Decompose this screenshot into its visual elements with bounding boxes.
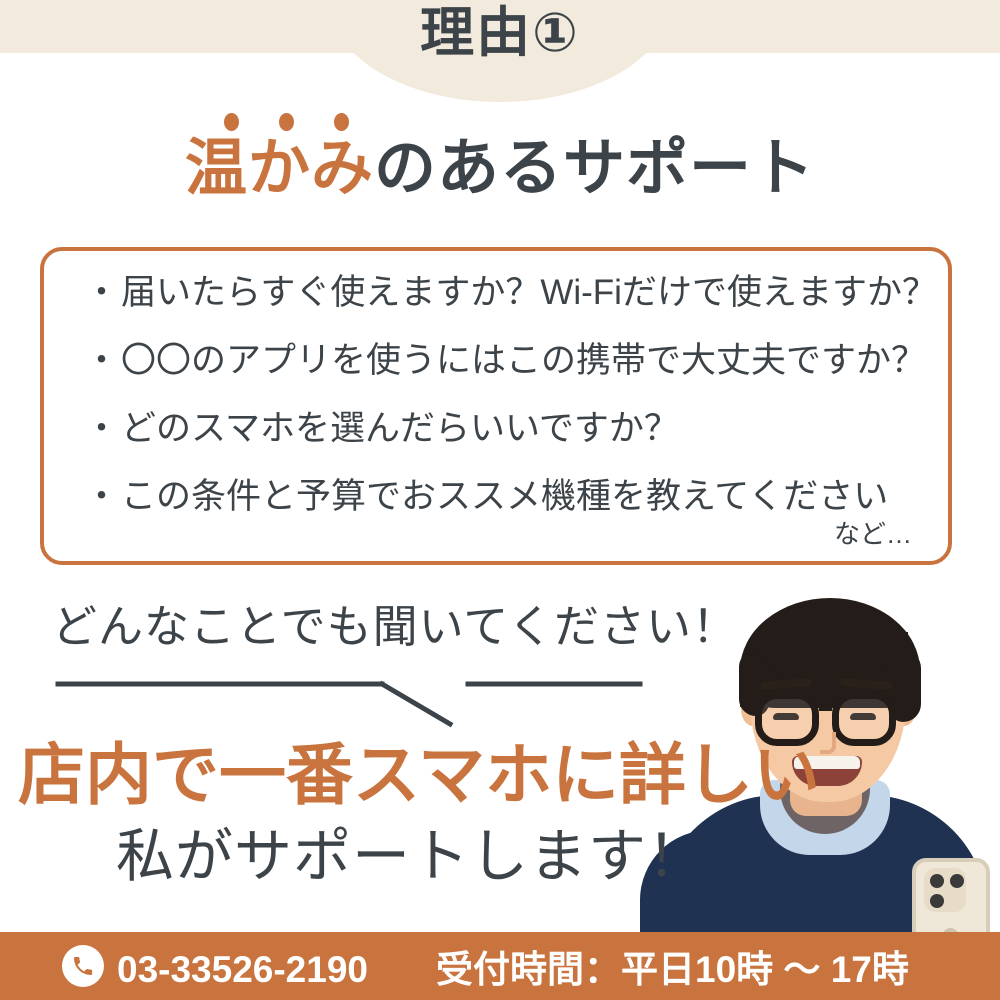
list-item-text: 届いたらすぐ使えますか？Wi-Fiだけで使えますか？	[121, 273, 937, 312]
bullet-marker: ・	[84, 477, 119, 516]
bullet-marker: ・	[84, 273, 119, 312]
lead-line-text: どんなことでも聞いてください！	[52, 604, 738, 649]
poster-root: 理由① 温かみのあるサポート ・届いたらすぐ使えますか？Wi-Fiだけで使えます…	[0, 0, 1000, 1000]
main-title: 温かみのあるサポート	[0, 136, 1000, 201]
list-item-text: 〇〇のアプリを使うにはこの携帯で大丈夫ですか？	[121, 341, 926, 380]
list-item-text: どのスマホを選んだらいいですか？	[121, 409, 679, 448]
photo-nose	[820, 732, 836, 754]
question-list: ・届いたらすぐ使えますか？Wi-Fiだけで使えますか？ ・〇〇のアプリを使うには…	[84, 275, 930, 514]
photo-phone-lens	[950, 874, 964, 888]
statement-line-2: 私がサポートします！	[116, 828, 706, 886]
photo-glasses-lens-right	[832, 692, 896, 746]
speech-bubble-underline-icon	[40, 666, 660, 736]
phone-handset-glyph	[71, 954, 95, 978]
main-title-rest: のあるサポート	[374, 134, 815, 203]
bullet-marker: ・	[84, 341, 119, 380]
emphasis-dot	[279, 113, 294, 131]
statement-line-1: 店内で一番スマホに詳しい	[18, 742, 820, 809]
list-item: ・〇〇のアプリを使うにはこの携帯で大丈夫ですか？	[84, 343, 930, 378]
phone-icon[interactable]	[62, 945, 104, 987]
main-title-accent: 温かみ	[185, 134, 374, 203]
phone-number[interactable]: 03-33526-2190	[117, 951, 368, 988]
header-badge-label: 理由①	[0, 6, 1000, 60]
contact-bar: 03-33526-2190 受付時間：平日10時 〜 17時	[0, 932, 1000, 1000]
list-item: ・この条件と予算でおススメ機種を教えてください	[84, 479, 930, 514]
business-hours: 受付時間：平日10時 〜 17時	[436, 951, 909, 988]
emphasis-dots	[222, 113, 362, 133]
photo-phone-lens	[930, 894, 944, 908]
emphasis-dot	[224, 113, 239, 131]
bullet-marker: ・	[84, 409, 119, 448]
list-item: ・届いたらすぐ使えますか？Wi-Fiだけで使えますか？	[84, 275, 930, 310]
photo-glasses-bridge	[819, 704, 832, 711]
list-item-text: この条件と予算でおススメ機種を教えてください	[121, 477, 888, 516]
question-box: ・届いたらすぐ使えますか？Wi-Fiだけで使えますか？ ・〇〇のアプリを使うには…	[40, 247, 952, 565]
photo-phone-lens	[930, 874, 944, 888]
etc-label: など…	[834, 521, 912, 547]
list-item: ・どのスマホを選んだらいいですか？	[84, 411, 930, 446]
emphasis-dot	[334, 113, 349, 131]
